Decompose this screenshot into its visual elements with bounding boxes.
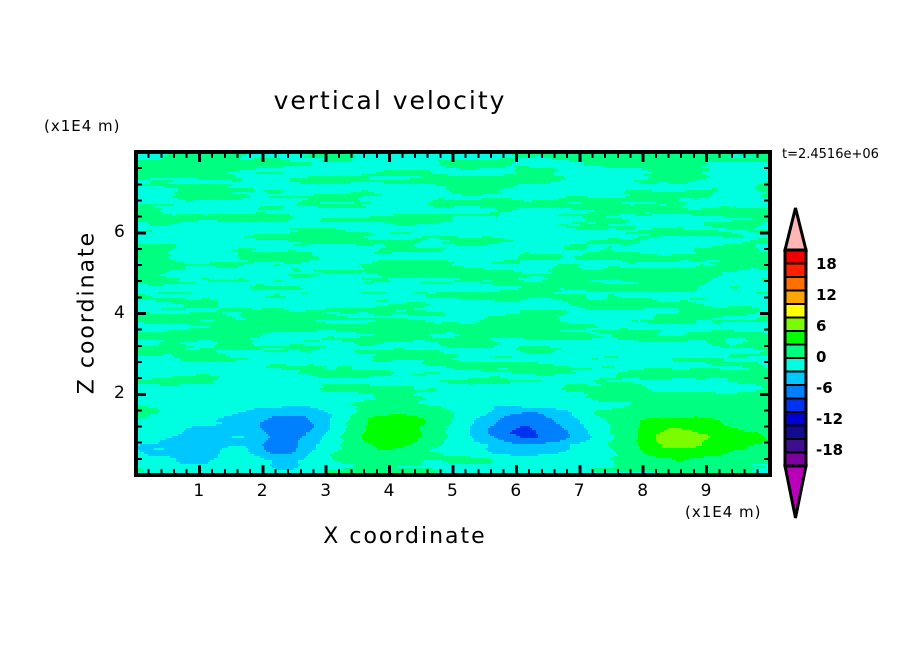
colorbar-tick-label: -18 [816,441,843,459]
y-tick-label: 2 [114,383,125,403]
x-tick-label: 6 [510,481,521,501]
x-tick-label: 5 [447,481,458,501]
figure-canvas: vertical velocity (x1E4 m) t=2.4516e+06 … [0,0,904,654]
x-tick-label: 1 [193,481,204,501]
x-tick-label: 2 [257,481,268,501]
colorbar [785,208,806,518]
colorbar-tick-label: 18 [816,255,837,273]
x-tick-label: 3 [320,481,331,501]
x-tick-label: 8 [637,481,648,501]
colorbar-tick-label: 0 [816,348,826,366]
x-tick-label: 4 [384,481,395,501]
contour-field [136,152,770,476]
x-tick-label: 9 [701,481,712,501]
colorbar-tick-label: -12 [816,410,843,428]
colorbar-tick-label: 12 [816,286,837,304]
y-tick-label: 4 [114,303,125,323]
x-tick-label: 7 [574,481,585,501]
colorbar-tick-label: -6 [816,379,833,397]
y-tick-label: 6 [114,222,125,242]
colorbar-tick-label: 6 [816,317,826,335]
contour-plot-svg [0,0,904,654]
